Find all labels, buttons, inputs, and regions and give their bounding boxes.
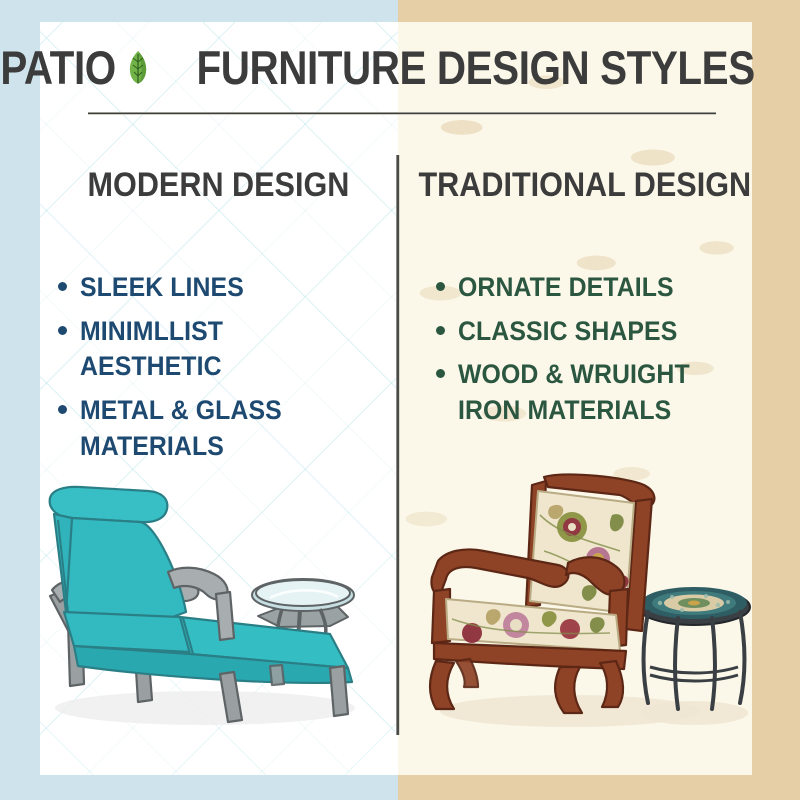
page-title: PATIO FURNITURE DESIGN STYLES: [40, 38, 752, 96]
list-item: SLEEK LINES: [58, 270, 388, 306]
column-heading-traditional-label: TRADITIONAL DESIGN: [418, 168, 751, 202]
feature-list-traditional: ORNATE DETAILS CLASSIC SHAPES WOOD & WRU…: [436, 270, 752, 437]
feature-list-modern: SLEEK LINES MINIMLLIST AESTHETIC METAL &…: [58, 270, 388, 472]
list-item: METAL & GLASS MATERIALS: [58, 393, 388, 464]
bullet-dot-icon: [436, 326, 445, 335]
bullet-dot-icon: [58, 405, 67, 414]
list-item-label: ORNATE DETAILS: [458, 270, 692, 306]
list-item-label: CLASSIC SHAPES: [458, 314, 696, 350]
list-item-label: METAL & GLASS MATERIALS: [80, 393, 388, 464]
column-heading-traditional: TRADITIONAL DESIGN: [400, 168, 752, 202]
page-title-part-two: FURNITURE DESIGN STYLES: [197, 44, 755, 91]
bullet-dot-icon: [436, 282, 445, 291]
column-heading-modern: MODERN DESIGN: [40, 168, 396, 202]
modern-chaise-lounge-illustration: [30, 470, 398, 735]
list-item: ORNATE DETAILS: [436, 270, 752, 306]
list-item-label: MINIMLLIST AESTHETIC: [80, 314, 388, 385]
infographic-canvas: PATIO FURNITURE DESIGN STYLES MODERN DES…: [0, 0, 800, 800]
bullet-dot-icon: [58, 326, 67, 335]
list-item-label: SLEEK LINES: [80, 270, 258, 306]
title-divider-rule: [88, 112, 716, 115]
leaf-icon: [127, 50, 149, 84]
lounge-backrest-cushion: [50, 487, 186, 618]
column-heading-modern-label: MODERN DESIGN: [87, 168, 349, 202]
bullet-dot-icon: [436, 369, 445, 378]
column-divider: [396, 155, 400, 735]
page-title-part-one: PATIO: [1, 44, 116, 91]
list-item: WOOD & WRUIGHT IRON MATERIALS: [436, 357, 752, 428]
traditional-armchair-illustration: [420, 455, 752, 735]
list-item: MINIMLLIST AESTHETIC: [58, 314, 388, 385]
bullet-dot-icon: [58, 282, 67, 291]
mosaic-side-table: [638, 587, 750, 709]
list-item-label: WOOD & WRUIGHT IRON MATERIALS: [458, 357, 752, 428]
list-item: CLASSIC SHAPES: [436, 314, 752, 350]
